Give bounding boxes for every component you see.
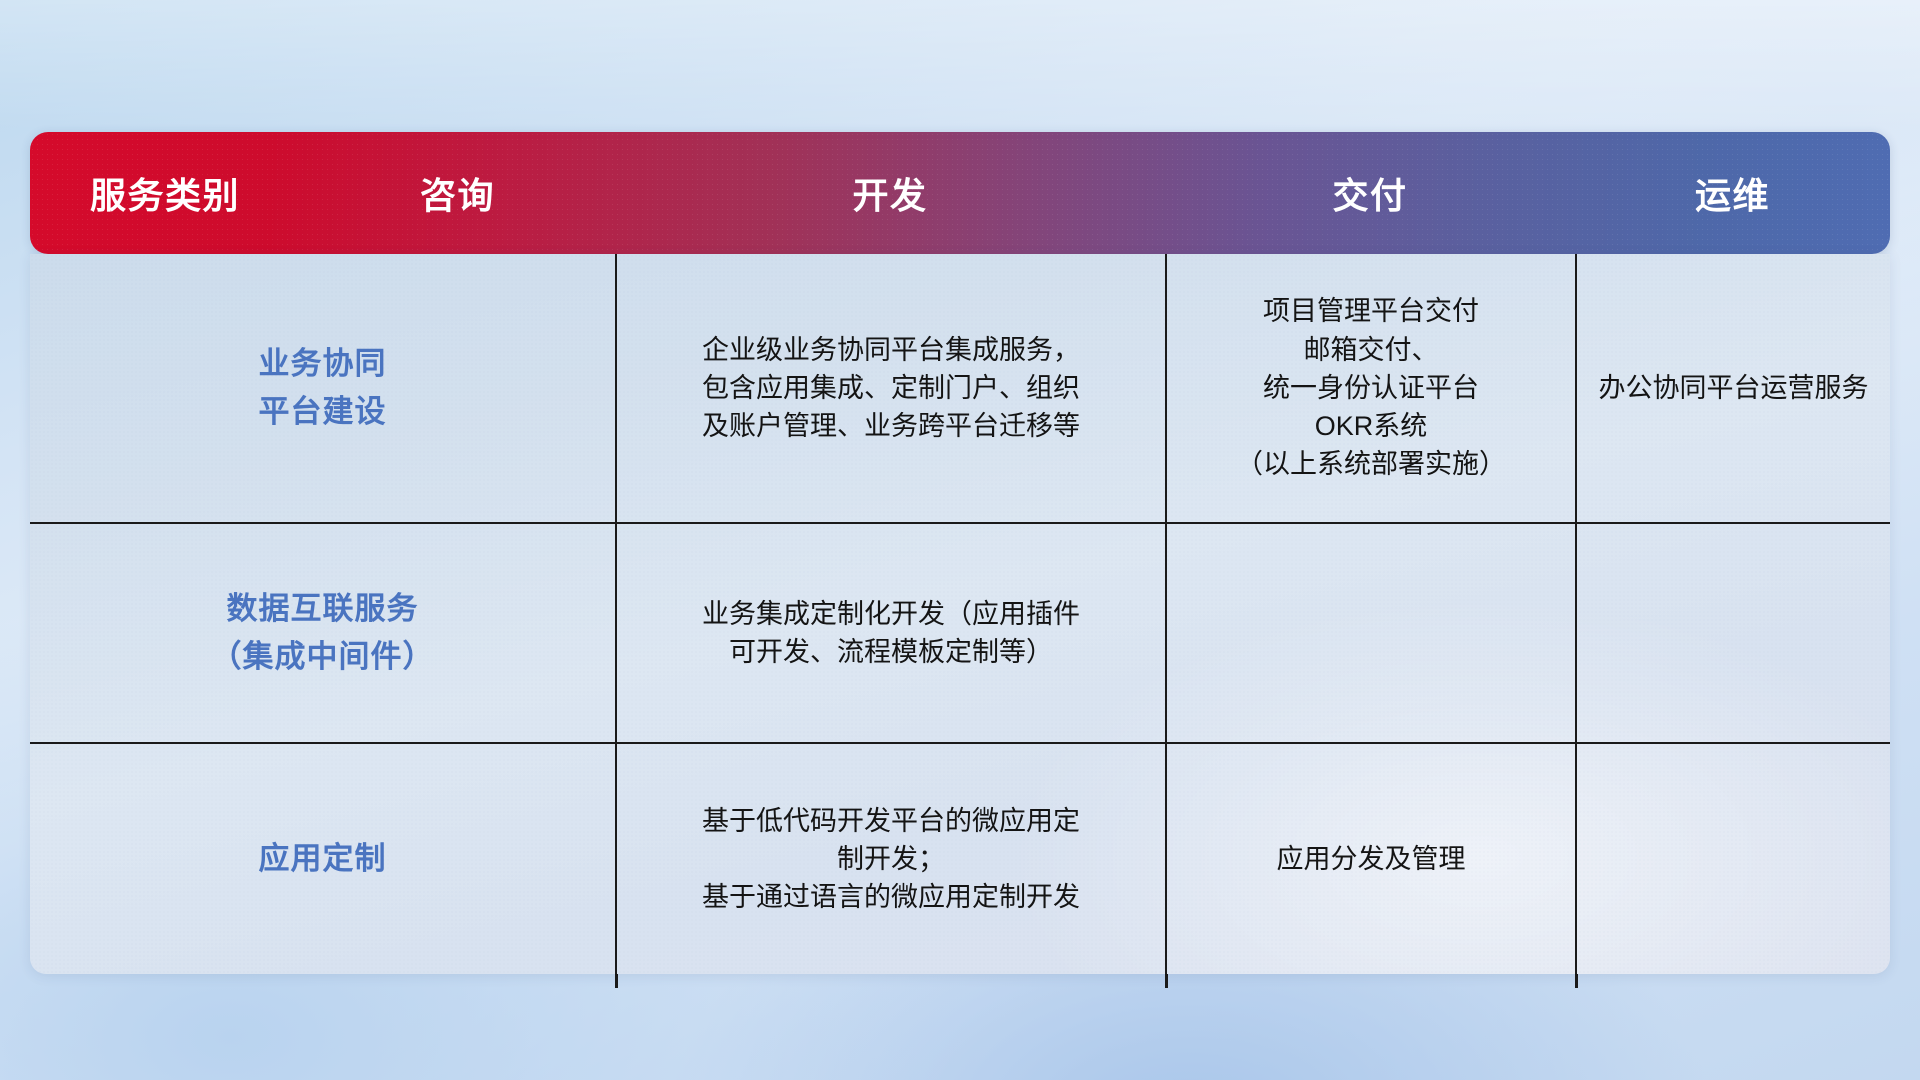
- table-row: 应用定制 基于低代码开发平台的微应用定 制开发； 基于通过语言的微应用定制开发 …: [30, 742, 1890, 974]
- column-header-development[interactable]: 开发: [615, 167, 1165, 219]
- cell-development-row2: 业务集成定制化开发（应用插件 可开发、流程模板定制等）: [615, 524, 1165, 742]
- table-body: 业务协同 平台建设 企业级业务协同平台集成服务， 包含应用集成、定制门户、组织 …: [30, 254, 1890, 974]
- cell-category-row2: 数据互联服务 （集成中间件）: [30, 524, 615, 742]
- table-header-row: 服务类别 咨询 开发 交付 运维: [30, 132, 1890, 254]
- column-header-delivery[interactable]: 交付: [1165, 167, 1575, 219]
- cell-development-row1: 企业级业务协同平台集成服务， 包含应用集成、定制门户、组织 及账户管理、业务跨平…: [615, 254, 1165, 522]
- cell-category-row3: 应用定制: [30, 744, 615, 974]
- column-divider-overshoot-1: [615, 974, 618, 988]
- table-row: 业务协同 平台建设 企业级业务协同平台集成服务， 包含应用集成、定制门户、组织 …: [30, 254, 1890, 522]
- cell-delivery-row1: 项目管理平台交付 邮箱交付、 统一身份认证平台 OKR系统 （以上系统部署实施）: [1165, 254, 1575, 522]
- column-header-service-category[interactable]: 服务类别: [30, 167, 300, 219]
- cell-operations-row1: 办公协同平台运营服务: [1575, 254, 1890, 522]
- cell-operations-row2: [1575, 524, 1890, 742]
- cell-category-row1: 业务协同 平台建设: [30, 254, 615, 522]
- cell-delivery-row3: 应用分发及管理: [1165, 744, 1575, 974]
- cell-development-row3: 基于低代码开发平台的微应用定 制开发； 基于通过语言的微应用定制开发: [615, 744, 1165, 974]
- service-matrix-table: 服务类别 咨询 开发 交付 运维 业务协同 平台建设 企业级业务协同平台集成服务…: [30, 132, 1890, 974]
- cell-delivery-row2: [1165, 524, 1575, 742]
- column-divider-overshoot-2: [1165, 974, 1168, 988]
- column-header-consulting[interactable]: 咨询: [300, 167, 615, 219]
- cell-operations-row3: [1575, 744, 1890, 974]
- column-header-operations[interactable]: 运维: [1575, 167, 1890, 219]
- table-row: 数据互联服务 （集成中间件） 业务集成定制化开发（应用插件 可开发、流程模板定制…: [30, 522, 1890, 742]
- column-divider-overshoot-3: [1575, 974, 1578, 988]
